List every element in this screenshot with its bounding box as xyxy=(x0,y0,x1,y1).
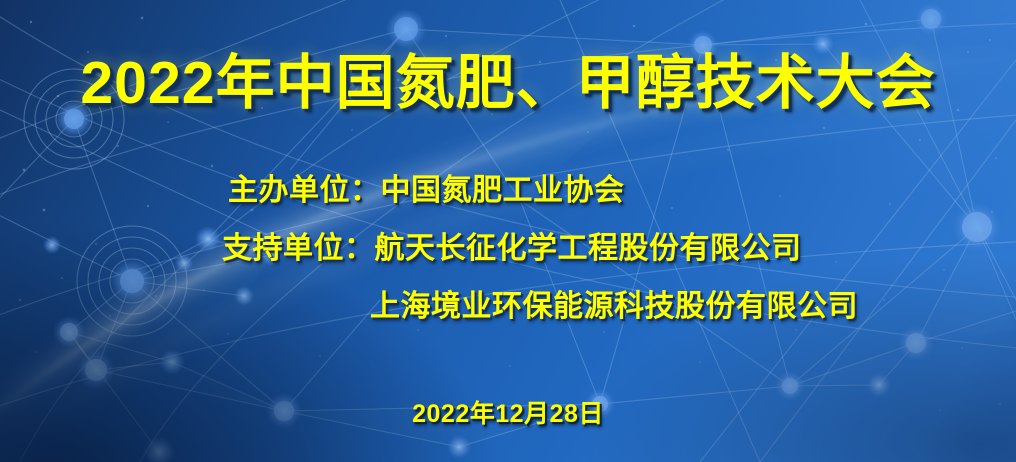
slide-content: 2022年中国氮肥、甲醇技术大会 主办单位：中国氮肥工业协会 支持单位：航天长征… xyxy=(0,0,1016,462)
supporter-line-2: 上海境业环保能源科技股份有限公司 xyxy=(0,292,1016,322)
credits-block: 主办单位：中国氮肥工业协会 支持单位：航天长征化学工程股份有限公司 上海境业环保… xyxy=(0,176,1016,322)
organizer-line: 主办单位：中国氮肥工业协会 xyxy=(0,176,1016,206)
page-title: 2022年中国氮肥、甲醇技术大会 xyxy=(0,52,1016,115)
supporter-line-1: 支持单位：航天长征化学工程股份有限公司 xyxy=(0,234,1016,264)
event-date: 2022年12月28日 xyxy=(0,394,1016,430)
conference-banner-slide: 2022年中国氮肥、甲醇技术大会 主办单位：中国氮肥工业协会 支持单位：航天长征… xyxy=(0,0,1016,462)
